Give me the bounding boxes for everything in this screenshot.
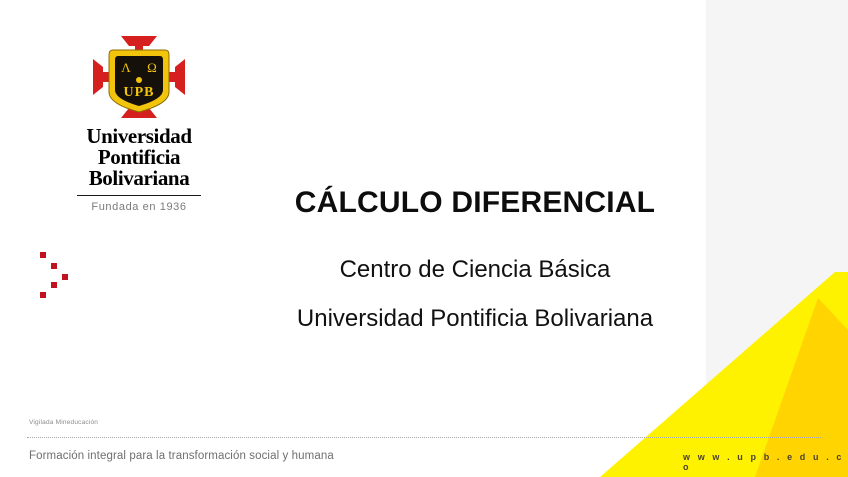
footer-website-url[interactable]: w w w . u p b . e d u . c o: [683, 452, 848, 472]
upb-crest-icon: Λ Ω UPB: [91, 34, 187, 120]
footer-tagline: Formación integral para la transformació…: [29, 450, 334, 462]
vigilada-mineducacion-label: Vigilada Mineducación: [29, 419, 98, 426]
logo-name-line-1: Universidad: [63, 126, 215, 147]
right-grey-band: [706, 0, 848, 477]
crest-omega-glyph: Ω: [147, 60, 157, 75]
red-dot: [51, 282, 57, 288]
footer-divider: [27, 437, 821, 438]
slide-title: CÁLCULO DIFERENCIAL: [190, 186, 760, 220]
logo-name-line-2: Pontificia: [63, 147, 215, 168]
red-dot: [62, 274, 68, 280]
red-dot: [40, 252, 46, 258]
red-dot: [51, 263, 57, 269]
crest-alpha-glyph: Λ: [121, 60, 131, 75]
red-dot: [40, 292, 46, 298]
slide-canvas: Λ Ω UPB Universidad Pontificia Bolivaria…: [0, 0, 848, 477]
slide-subtitle-line-1: Centro de Ciencia Básica: [190, 256, 760, 284]
logo-divider: [77, 195, 201, 196]
upb-logo-name: Universidad Pontificia Bolivariana: [63, 126, 215, 189]
crest-initials-glyph: UPB: [124, 85, 155, 100]
red-dots-decoration: [36, 250, 80, 296]
slide-subtitle-line-2: Universidad Pontificia Bolivariana: [190, 305, 760, 333]
